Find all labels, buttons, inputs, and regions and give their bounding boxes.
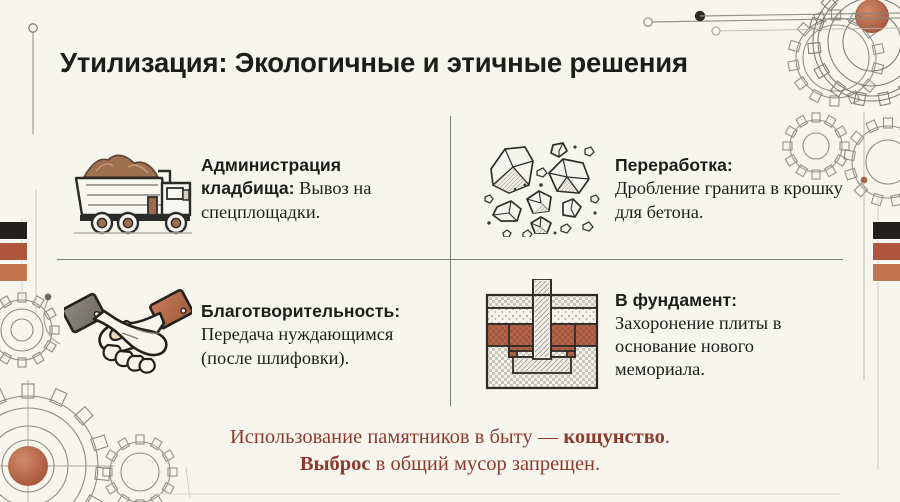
solution-text: Переработка: Дробление гранита в крошку … bbox=[613, 154, 843, 224]
solution-body: Захоронение плиты в основание нового мем… bbox=[615, 313, 781, 379]
palette-swatches-right bbox=[873, 222, 900, 281]
slide-root: Утилизация: Экологичные и этичные решени… bbox=[0, 0, 900, 502]
page-title: Утилизация: Экологичные и этичные решени… bbox=[60, 47, 688, 79]
solution-text: Благотворительность: Передача нуждающимс… bbox=[199, 300, 429, 370]
crushed-granite-rocks-icon bbox=[471, 125, 613, 253]
solution-cell-foundation: В фундамент: Захоронение плиты в основан… bbox=[471, 268, 843, 402]
footer-line1-period: . bbox=[665, 426, 670, 448]
swatch-terracotta-dark bbox=[873, 243, 900, 260]
footer-line1-emphasis: кощунство bbox=[563, 426, 665, 448]
swatch-terracotta-light bbox=[0, 264, 27, 281]
footer-warning: Использование памятников в быту — кощунс… bbox=[0, 424, 900, 479]
footer-line2-text: в общий мусор запрещен. bbox=[371, 453, 601, 475]
dump-truck-icon bbox=[57, 125, 199, 253]
solution-body: Передача нуждающимся (после шлифовки). bbox=[201, 324, 393, 367]
solution-text: Администрация кладбища: Вывоз на спецпло… bbox=[199, 154, 429, 224]
footer-line-2: Выброс в общий мусор запрещен. bbox=[0, 451, 900, 478]
solution-cell-charity: Благотворительность: Передача нуждающимс… bbox=[57, 268, 429, 402]
swatch-terracotta-light bbox=[873, 264, 900, 281]
solutions-grid: Администрация кладбища: Вывоз на спецпло… bbox=[57, 116, 843, 406]
palette-swatches-left bbox=[0, 222, 27, 281]
grid-vertical-divider bbox=[450, 116, 451, 406]
swatch-terracotta-dark bbox=[0, 243, 27, 260]
swatch-dark bbox=[873, 222, 900, 239]
solution-cell-administration: Администрация кладбища: Вывоз на спецпло… bbox=[57, 122, 429, 256]
solution-text: В фундамент: Захоронение плиты в основан… bbox=[613, 289, 843, 382]
solution-cell-recycling: Переработка: Дробление гранита в крошку … bbox=[471, 122, 843, 256]
footer-line-1: Использование памятников в быту — кощунс… bbox=[0, 424, 900, 451]
foundation-cross-section-icon bbox=[471, 271, 613, 399]
solution-lead: В фундамент: bbox=[615, 290, 737, 310]
footer-line1-text: Использование памятников в быту — bbox=[230, 426, 563, 448]
grid-horizontal-divider bbox=[57, 259, 843, 260]
handshake-icon bbox=[57, 271, 199, 399]
solution-body: Дробление гранита в крошку для бетона. bbox=[615, 178, 843, 221]
footer-line2-emphasis: Выброс bbox=[300, 453, 371, 475]
solution-lead: Благотворительность: bbox=[201, 301, 400, 321]
solution-lead: Переработка: bbox=[615, 155, 733, 175]
decor-dot-1 bbox=[855, 0, 889, 33]
swatch-dark bbox=[0, 222, 27, 239]
